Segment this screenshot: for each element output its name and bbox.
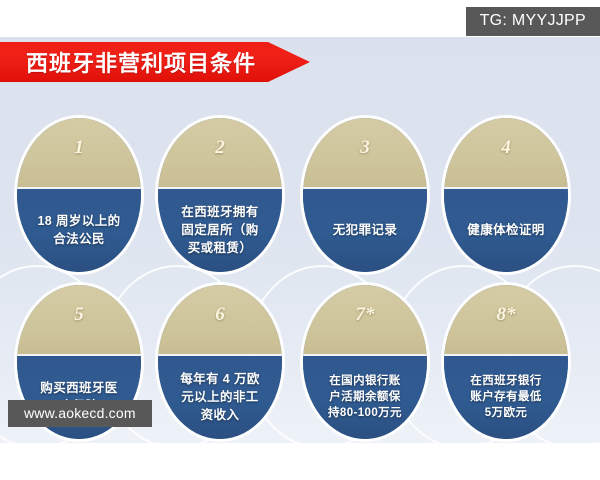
- oval-number-area: 8*: [444, 285, 568, 356]
- oval-text-area: 在西班牙银行账户存有最低5万欧元: [444, 356, 568, 439]
- condition-number: 1: [74, 137, 84, 159]
- condition-number: 3: [360, 137, 370, 159]
- condition-label: 健康体检证明: [467, 221, 544, 239]
- condition-oval-7[interactable]: 7* 在国内银行账户活期余额保持80-100万元: [303, 285, 427, 439]
- condition-number: 6: [215, 304, 225, 326]
- condition-number: 2: [215, 137, 225, 159]
- oval-text-area: 健康体检证明: [444, 189, 568, 272]
- title-banner: 西班牙非营利项目条件: [0, 42, 310, 82]
- condition-oval-1[interactable]: 1 18 周岁以上的合法公民: [17, 118, 141, 272]
- oval-number-area: 3: [303, 118, 427, 189]
- oval-number-area: 2: [158, 118, 282, 189]
- telegram-watermark: TG: MYYJJPP: [466, 7, 600, 36]
- oval-text-area: 在国内银行账户活期余额保持80-100万元: [303, 356, 427, 439]
- condition-label: 在西班牙拥有固定居所（购买或租赁）: [181, 203, 258, 257]
- condition-number: 7*: [356, 304, 375, 326]
- slide-canvas: 西班牙非营利项目条件 1 18 周岁以上的合法公民 2 在西班牙拥有固定居所（购…: [0, 37, 600, 443]
- condition-oval-6[interactable]: 6 每年有 4 万欧元以上的非工资收入: [158, 285, 282, 439]
- condition-oval-2[interactable]: 2 在西班牙拥有固定居所（购买或租赁）: [158, 118, 282, 272]
- oval-number-area: 6: [158, 285, 282, 356]
- condition-label: 每年有 4 万欧元以上的非工资收入: [180, 370, 260, 424]
- oval-text-area: 每年有 4 万欧元以上的非工资收入: [158, 356, 282, 439]
- oval-text-area: 无犯罪记录: [303, 189, 427, 272]
- condition-oval-8[interactable]: 8* 在西班牙银行账户存有最低5万欧元: [444, 285, 568, 439]
- condition-label: 18 周岁以上的合法公民: [37, 212, 120, 248]
- condition-oval-4[interactable]: 4 健康体检证明: [444, 118, 568, 272]
- oval-number-area: 4: [444, 118, 568, 189]
- condition-label: 在国内银行账户活期余额保持80-100万元: [328, 373, 402, 421]
- oval-text-area: 18 周岁以上的合法公民: [17, 189, 141, 272]
- condition-label: 在西班牙银行账户存有最低5万欧元: [470, 373, 541, 421]
- website-watermark: www.aokecd.com: [8, 400, 152, 427]
- condition-label: 无犯罪记录: [333, 221, 398, 239]
- oval-number-area: 5: [17, 285, 141, 356]
- oval-text-area: 在西班牙拥有固定居所（购买或租赁）: [158, 189, 282, 272]
- oval-number-area: 1: [17, 118, 141, 189]
- oval-number-area: 7*: [303, 285, 427, 356]
- condition-number: 4: [501, 137, 511, 159]
- condition-number: 8*: [497, 304, 516, 326]
- page-title: 西班牙非营利项目条件: [26, 46, 256, 78]
- condition-number: 5: [74, 304, 84, 326]
- condition-oval-3[interactable]: 3 无犯罪记录: [303, 118, 427, 272]
